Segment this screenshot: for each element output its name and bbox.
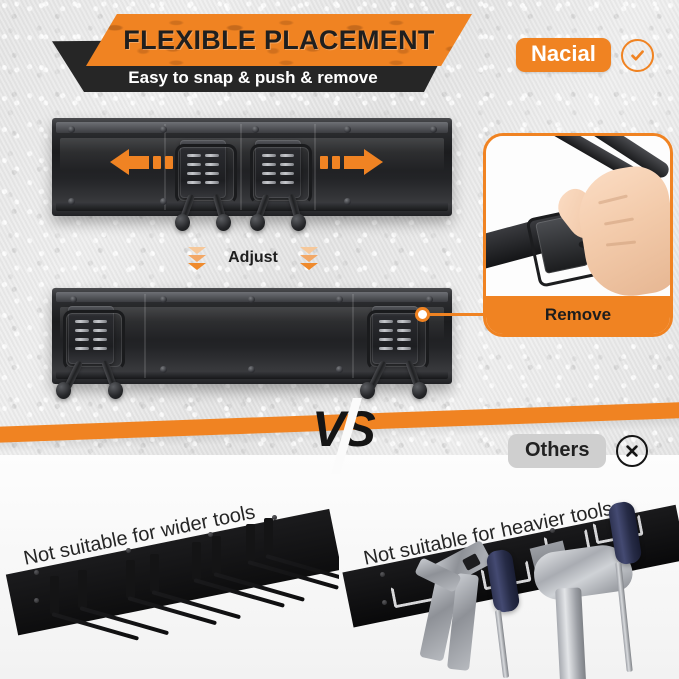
remove-photo <box>486 136 670 296</box>
rack-prong <box>150 554 159 592</box>
adjust-label: Adjust <box>228 249 278 267</box>
rack-prong <box>50 576 59 614</box>
remove-callout-card: Remove <box>483 133 673 337</box>
rail-screw <box>68 126 75 133</box>
rack-prong <box>126 560 135 598</box>
infographic-root: FLEXIBLE PLACEMENT Easy to snap & push &… <box>0 0 679 679</box>
x-circle-icon <box>616 435 648 467</box>
rack-prong <box>78 570 87 608</box>
rail-screw <box>248 296 255 303</box>
comparison-panel-left: Not suitable for wider tools <box>0 470 339 679</box>
chevron-down-icon <box>188 247 206 270</box>
check-circle-icon <box>621 39 654 72</box>
rail-hook <box>249 140 307 236</box>
vs-divider: VS <box>312 404 384 468</box>
rail-screw <box>336 366 343 373</box>
rail-hook <box>174 140 232 236</box>
rail-seam <box>314 124 316 210</box>
adjust-indicator: Adjust <box>188 240 318 276</box>
rail-seam <box>352 294 354 378</box>
arrow-left-icon <box>110 150 173 174</box>
brand-name: Nacial <box>516 38 611 72</box>
rail-screw <box>430 126 437 133</box>
page-subtitle: Easy to snap & push & remove <box>58 64 448 92</box>
others-label: Others <box>508 434 606 468</box>
rack-prong <box>264 518 273 556</box>
rack-screw <box>550 528 555 533</box>
rail-screw <box>344 126 351 133</box>
rail-screw <box>336 296 343 303</box>
brand-badge: Nacial <box>516 38 654 72</box>
rack-screw <box>34 570 39 575</box>
rail-screw <box>70 296 77 303</box>
rack-prong <box>212 536 221 574</box>
rail-hook <box>366 306 424 402</box>
page-title: FLEXIBLE PLACEMENT <box>86 16 472 64</box>
callout-connector-dot <box>415 307 430 322</box>
rack-screw <box>126 548 131 553</box>
rail-screw <box>160 126 167 133</box>
rail-screw <box>248 366 255 373</box>
rail-screw <box>426 296 433 303</box>
rail-screw <box>160 366 167 373</box>
rack-screw <box>34 598 39 603</box>
rail-screw <box>344 198 351 205</box>
rail-screw <box>160 296 167 303</box>
rail-screw <box>252 126 259 133</box>
header-banner: FLEXIBLE PLACEMENT Easy to snap & push &… <box>52 14 472 92</box>
rail-seam <box>240 124 242 210</box>
rack-prong <box>192 542 201 580</box>
rail-screw <box>68 198 75 205</box>
rack-screw <box>380 572 385 577</box>
rack-screw <box>382 600 387 605</box>
rail-seam <box>144 294 146 378</box>
rack-prong <box>246 524 255 562</box>
others-badge: Others <box>508 434 648 468</box>
remove-label: Remove <box>486 296 670 334</box>
comparison-panel-right: Not suitable for heavier tools <box>340 470 679 679</box>
arrow-right-icon <box>320 150 383 174</box>
chevron-down-icon <box>300 247 318 270</box>
rail-hook <box>62 306 120 402</box>
rail-screw <box>160 198 167 205</box>
callout-connector-line <box>428 313 484 316</box>
